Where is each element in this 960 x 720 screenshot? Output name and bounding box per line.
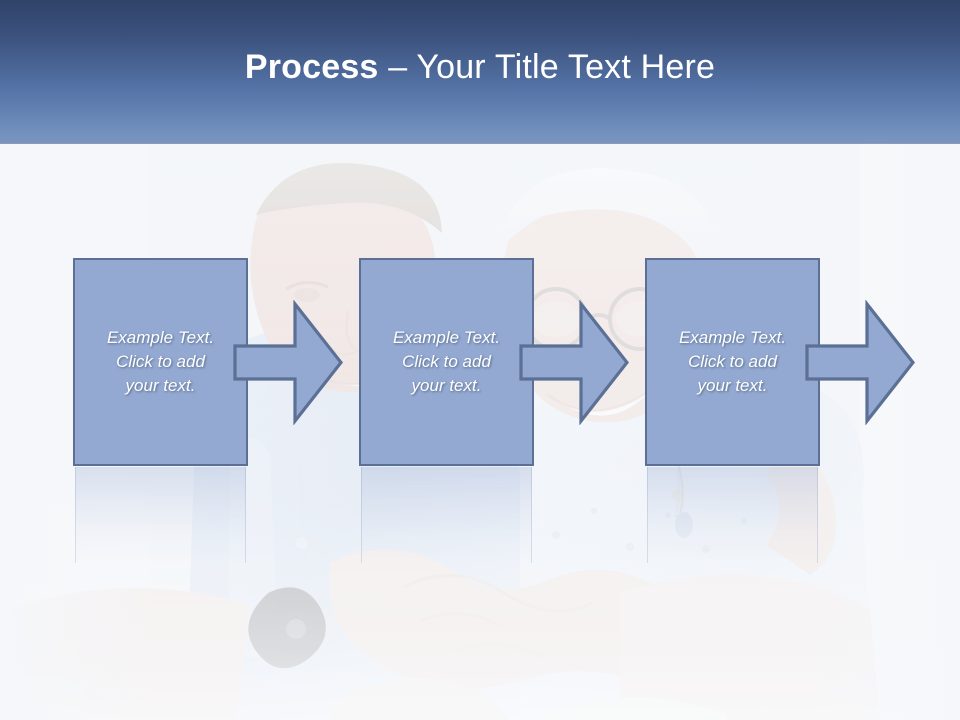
process-step-1-label: Example Text. Click to add your text. [97, 326, 224, 398]
process-step-3[interactable]: Example Text. Click to add your text. [645, 258, 820, 466]
process-arrow-3 [805, 300, 915, 425]
process-step-1-reflection [75, 467, 246, 563]
process-chain: Example Text. Click to add your text. Ex… [0, 0, 960, 720]
process-step-2[interactable]: Example Text. Click to add your text. [359, 258, 534, 466]
process-step-1[interactable]: Example Text. Click to add your text. [73, 258, 248, 466]
right-arrow-icon [805, 300, 915, 425]
right-arrow-icon [519, 300, 629, 425]
presentation-slide: Process – Your Title Text Here Example T… [0, 0, 960, 720]
process-arrow-2 [519, 300, 629, 425]
process-step-2-reflection [361, 467, 532, 563]
process-step-2-label: Example Text. Click to add your text. [383, 326, 510, 398]
process-step-3-reflection [647, 467, 818, 563]
right-arrow-icon [233, 300, 343, 425]
process-step-2-box[interactable]: Example Text. Click to add your text. [359, 258, 534, 466]
process-step-1-box[interactable]: Example Text. Click to add your text. [73, 258, 248, 466]
process-step-3-box[interactable]: Example Text. Click to add your text. [645, 258, 820, 466]
process-arrow-1 [233, 300, 343, 425]
process-step-3-label: Example Text. Click to add your text. [669, 326, 796, 398]
